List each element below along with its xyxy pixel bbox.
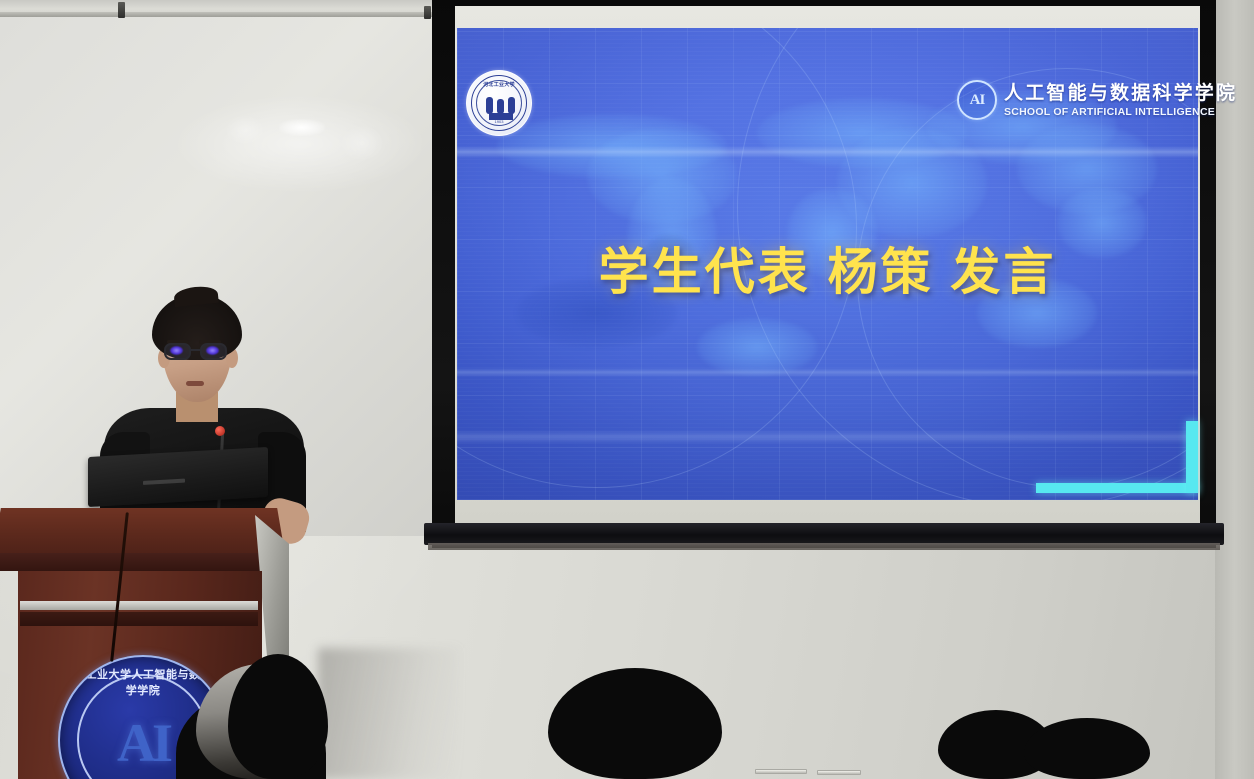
projector-screen-bottom-bar	[424, 523, 1224, 545]
seal-figure	[497, 99, 504, 114]
glasses-reflection	[170, 346, 183, 355]
ai-monogram: AI	[970, 92, 985, 109]
wall-shadow	[318, 648, 458, 779]
university-seal: 河北工业大学 1903	[466, 70, 532, 136]
school-name-cn: 人工智能与数据科学学院	[1004, 78, 1237, 105]
podium-trim-silver	[20, 601, 258, 610]
seal-figure	[486, 97, 493, 114]
school-name-en: SCHOOL OF ARTIFICIAL INTELLIGENCE	[1004, 106, 1237, 118]
desk-edge	[755, 769, 807, 774]
laptop[interactable]	[88, 447, 268, 507]
microphone-indicator-icon	[215, 426, 225, 436]
glasses-reflection	[206, 346, 219, 355]
corner-bracket-horizontal	[1036, 483, 1198, 493]
whiteboard-rail	[0, 12, 438, 17]
podium-emblem-text-cn: 河北工业大学人工智能与数据科学学院	[60, 666, 226, 698]
podium-lip	[0, 553, 286, 571]
glasses-bridge	[191, 349, 200, 351]
presentation-photo-scene: 河北工业大学 1903 AI 人工智能与数据科学学院 SCHOOL OF ART…	[0, 0, 1254, 779]
slide-title: 学生代表 杨策 发言	[457, 232, 1198, 304]
seal-text-cn: 河北工业大学	[467, 81, 531, 88]
school-name-block: 人工智能与数据科学学院 SCHOOL OF ARTIFICIAL INTELLI…	[1004, 78, 1237, 118]
seal-year: 1903	[467, 119, 531, 124]
rail-clip-icon	[118, 2, 125, 18]
speaker-mouth	[186, 381, 204, 386]
seal-figure	[508, 97, 515, 114]
audience-head	[1024, 718, 1150, 779]
corner-bracket-vertical	[1186, 421, 1198, 493]
laptop-badge	[143, 479, 185, 485]
school-ai-logo-icon: AI	[957, 80, 997, 120]
rail-clip-icon	[424, 6, 431, 19]
whiteboard-smudge	[225, 115, 265, 145]
whiteboard-glare	[279, 119, 325, 136]
desk-edge	[817, 770, 861, 775]
podium-trim-dark	[20, 612, 258, 626]
whiteboard-smudge	[340, 125, 384, 161]
